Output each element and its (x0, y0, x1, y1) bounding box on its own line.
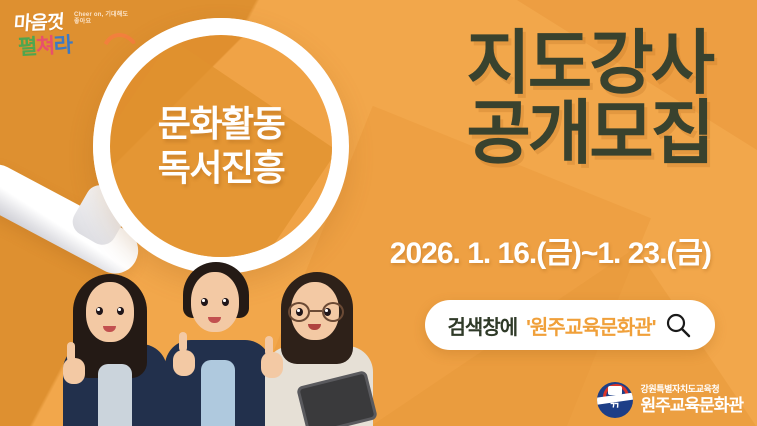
brand-line-2: 펼쳐라 (17, 29, 72, 62)
brand-char-1: 펼 (18, 35, 37, 59)
magnifier-icon: 문화활동 독서진흥 (93, 18, 349, 274)
headline-line-1: 지도강사 (466, 28, 712, 98)
magnifier-lens: 문화활동 독서진흥 (110, 35, 332, 257)
eye-left (96, 307, 103, 315)
head (86, 282, 134, 342)
lens-line-1: 문화활동 (158, 103, 284, 145)
footer-institution-name: 원주교육문화관 (641, 397, 743, 415)
shirt (201, 360, 235, 426)
pointing-finger (179, 332, 187, 352)
shirt (98, 364, 132, 426)
footer-text-block: 강원특별자치도교육청 원주교육문화관 (641, 385, 743, 414)
headline-line-2: 공개모집 (466, 98, 712, 168)
head (191, 272, 239, 332)
eye-left (201, 298, 208, 306)
gangwon-education-emblem-icon: ᄁ (597, 382, 633, 418)
pointing-finger (67, 342, 75, 362)
brand-char-2: 쳐 (35, 35, 54, 59)
glasses-icon (288, 302, 344, 322)
bridge (310, 310, 322, 312)
pointing-finger (265, 336, 273, 356)
promotional-banner: 마음껏 Cheer on, 기대해도 좋아요 펼쳐라 문화활동 독서진흥 지도강… (0, 0, 757, 426)
character-group (55, 251, 375, 426)
footer-logo: ᄁ 강원특별자치도교육청 원주교육문화관 (597, 382, 743, 418)
hand (261, 352, 283, 378)
search-callout[interactable]: 검색창에 '원주교육문화관' (425, 300, 715, 350)
lens-text-block: 문화활동 독서진흥 (110, 35, 332, 257)
date-range: 2026. 1. 16.(금)~1. 23.(금) (390, 228, 711, 272)
lens-line-2: 독서진흥 (158, 147, 284, 189)
footer-office-name: 강원특별자치도교육청 (641, 385, 743, 394)
search-icon (664, 311, 692, 339)
emblem-bottom-mark: ᄁ (607, 403, 623, 414)
search-label: 검색창에 (448, 311, 518, 340)
lens-right (322, 302, 344, 322)
character-woman-glasses (259, 266, 377, 426)
eye-right (222, 298, 229, 306)
brand-char-3: 라 (53, 34, 72, 58)
lens-left (288, 302, 310, 322)
eye-right (117, 307, 124, 315)
character-woman-suit (55, 266, 173, 426)
search-keyword: '원주교육문화관' (526, 311, 655, 340)
hand (63, 358, 85, 384)
hand (173, 350, 195, 376)
headline-block: 지도강사 공개모집 (466, 28, 712, 168)
brand-subtitle: Cheer on, 기대해도 좋아요 (74, 12, 134, 26)
